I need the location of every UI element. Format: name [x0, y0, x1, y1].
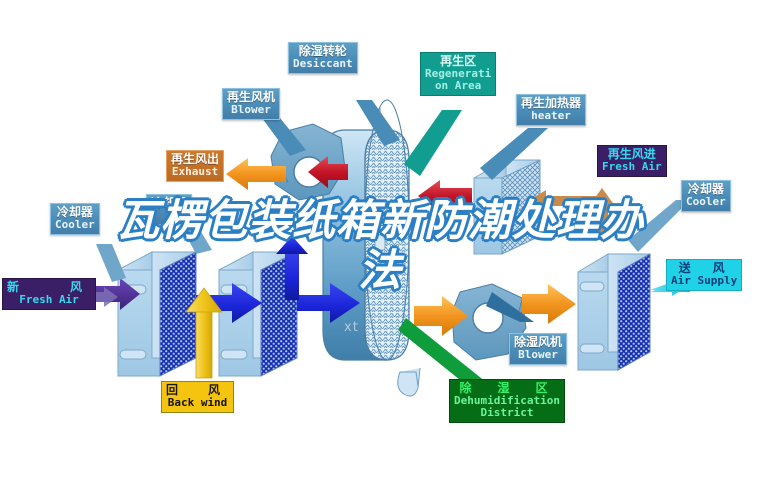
label-back-wind-cn: 回 风 [166, 384, 229, 397]
label-dehum-district-cn: 除 湿 区 [454, 382, 560, 395]
label-regen-fresh-air-en: Fresh Air [602, 161, 662, 173]
label-cooler-left-en: Cooler [55, 219, 95, 231]
label-air-supply[interactable]: 送 风 Air Supply [666, 259, 742, 291]
label-regeneration-area-en2: on Area [425, 80, 491, 92]
label-regen-blower[interactable]: 再生风机 Blower [222, 88, 280, 120]
label-dehum-blower-cn: 除湿风机 [514, 336, 562, 349]
label-back-wind-en: Back wind [166, 397, 229, 409]
label-regen-blower-en: Blower [227, 104, 275, 116]
label-regen-fresh-air[interactable]: 再生风进 Fresh Air [597, 145, 667, 177]
label-desiccant-rotor[interactable]: 除湿转轮 Desiccant [288, 42, 358, 74]
label-regeneration-area-cn: 再生区 [425, 55, 491, 68]
label-cooler-right-cn: 冷却器 [686, 183, 726, 196]
label-dehumidification-district[interactable]: 除 湿 区 Dehumidification District [449, 379, 565, 423]
diagram-canvas: 除湿转轮 Desiccant 再生风机 Blower 再生区 Regenerat… [0, 0, 757, 488]
page-title: 瓦楞包装纸箱新防潮处理办 法 [100, 196, 660, 296]
label-desiccant-rotor-cn: 除湿转轮 [293, 45, 353, 58]
watermark-text: xt [344, 320, 359, 335]
label-regen-exhaust-en: Exhaust [171, 166, 219, 178]
label-air-supply-cn: 送 风 [671, 262, 737, 275]
label-regen-exhaust-cn: 再生风出 [171, 153, 219, 166]
label-dehum-blower[interactable]: 除湿风机 Blower [509, 333, 567, 365]
label-back-wind[interactable]: 回 风 Back wind [161, 381, 234, 413]
label-air-supply-en: Air Supply [671, 275, 737, 287]
label-regen-exhaust[interactable]: 再生风出 Exhaust [166, 150, 224, 182]
label-regeneration-heater-en: heater [521, 110, 581, 122]
page-title-line1: 瓦楞包装纸箱新防潮处理办 [100, 196, 660, 246]
label-fresh-air[interactable]: 新 风 Fresh Air [2, 278, 96, 310]
label-regeneration-heater[interactable]: 再生加热器 heater [516, 94, 586, 126]
label-dehum-district-en2: District [454, 407, 560, 419]
label-regen-blower-cn: 再生风机 [227, 91, 275, 104]
label-cooler-right-en: Cooler [686, 196, 726, 208]
label-regeneration-area[interactable]: 再生区 Regenerati on Area [420, 52, 496, 96]
label-regen-fresh-air-cn: 再生风进 [602, 148, 662, 161]
label-fresh-air-cn: 新 风 [7, 281, 91, 294]
label-cooler-left[interactable]: 冷却器 Cooler [50, 203, 100, 235]
label-cooler-left-cn: 冷却器 [55, 206, 95, 219]
label-dehum-blower-en: Blower [514, 349, 562, 361]
label-regeneration-heater-cn: 再生加热器 [521, 97, 581, 110]
label-desiccant-rotor-en: Desiccant [293, 58, 353, 70]
label-fresh-air-en: Fresh Air [7, 294, 91, 306]
page-title-line2: 法 [100, 246, 660, 296]
label-cooler-right[interactable]: 冷却器 Cooler [681, 180, 731, 212]
